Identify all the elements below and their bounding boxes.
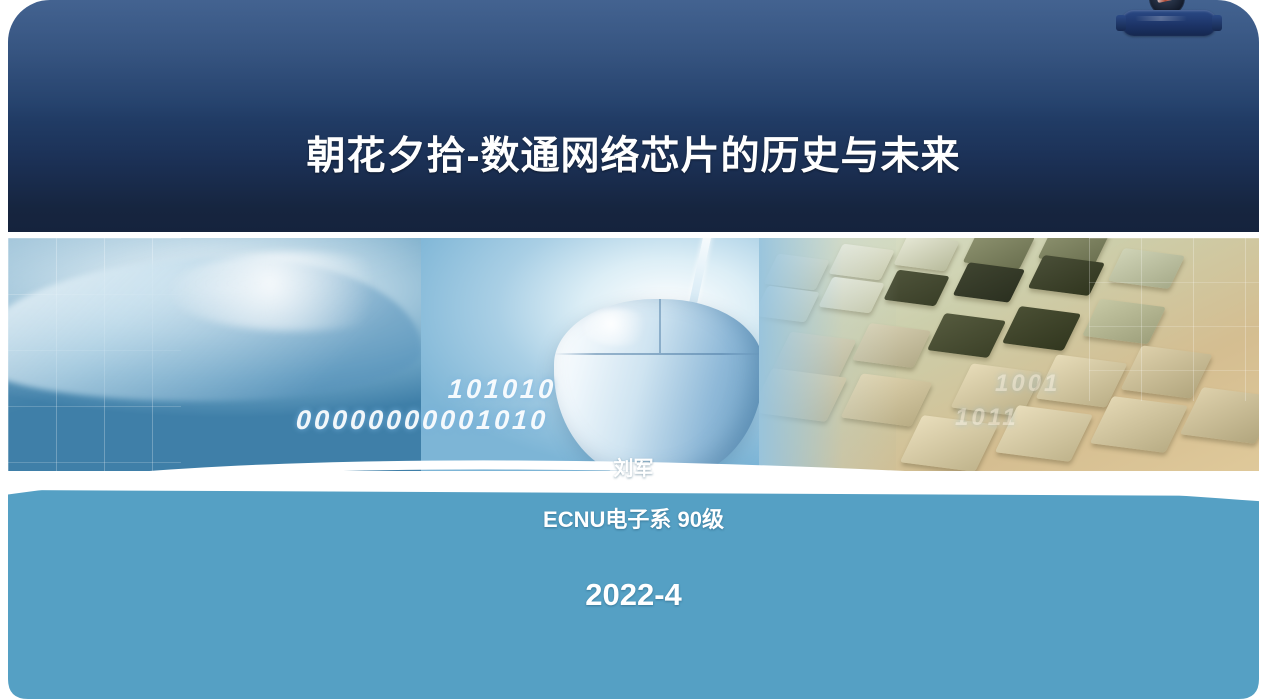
header-sheen [8, 0, 1259, 120]
keycap [1002, 306, 1081, 351]
keycap [893, 238, 960, 272]
mouse-split-line [554, 353, 763, 355]
photo-keyboard-region [759, 238, 1259, 471]
presenter-affiliation: ECNU电子系 90级 [8, 505, 1259, 535]
presenter-name: 刘军 [8, 455, 1259, 483]
slide-header-banner: 朝花夕拾-数通网络芯片的历史与未来 [8, 0, 1259, 232]
badge-mark-icon [1156, 0, 1177, 3]
page-title: 朝花夕拾-数通网络芯片的历史与未来 [8, 133, 1259, 181]
ribbon-gleam [1135, 16, 1187, 21]
computer-mouse-icon [554, 299, 763, 471]
keycap [927, 313, 1006, 358]
ribbon-icon [1121, 10, 1217, 36]
keyboard-blue-fade [759, 238, 899, 471]
hand-highlight [169, 252, 422, 331]
presentation-date: 2022-4 [8, 575, 1259, 615]
hero-photo-band [8, 238, 1259, 471]
presenter-info-block: 刘军 ECNU电子系 90级 2022-4 [8, 455, 1259, 615]
keyboard-grid-overlay [1089, 238, 1259, 401]
ribbon-emblem [1121, 0, 1217, 44]
mouse-button-divider [659, 299, 661, 354]
mouse-gloss [583, 309, 654, 345]
keycap [953, 262, 1025, 302]
mouse-cord-icon [688, 238, 713, 308]
title-slide: 朝花夕拾-数通网络芯片的历史与未来 [0, 0, 1267, 699]
